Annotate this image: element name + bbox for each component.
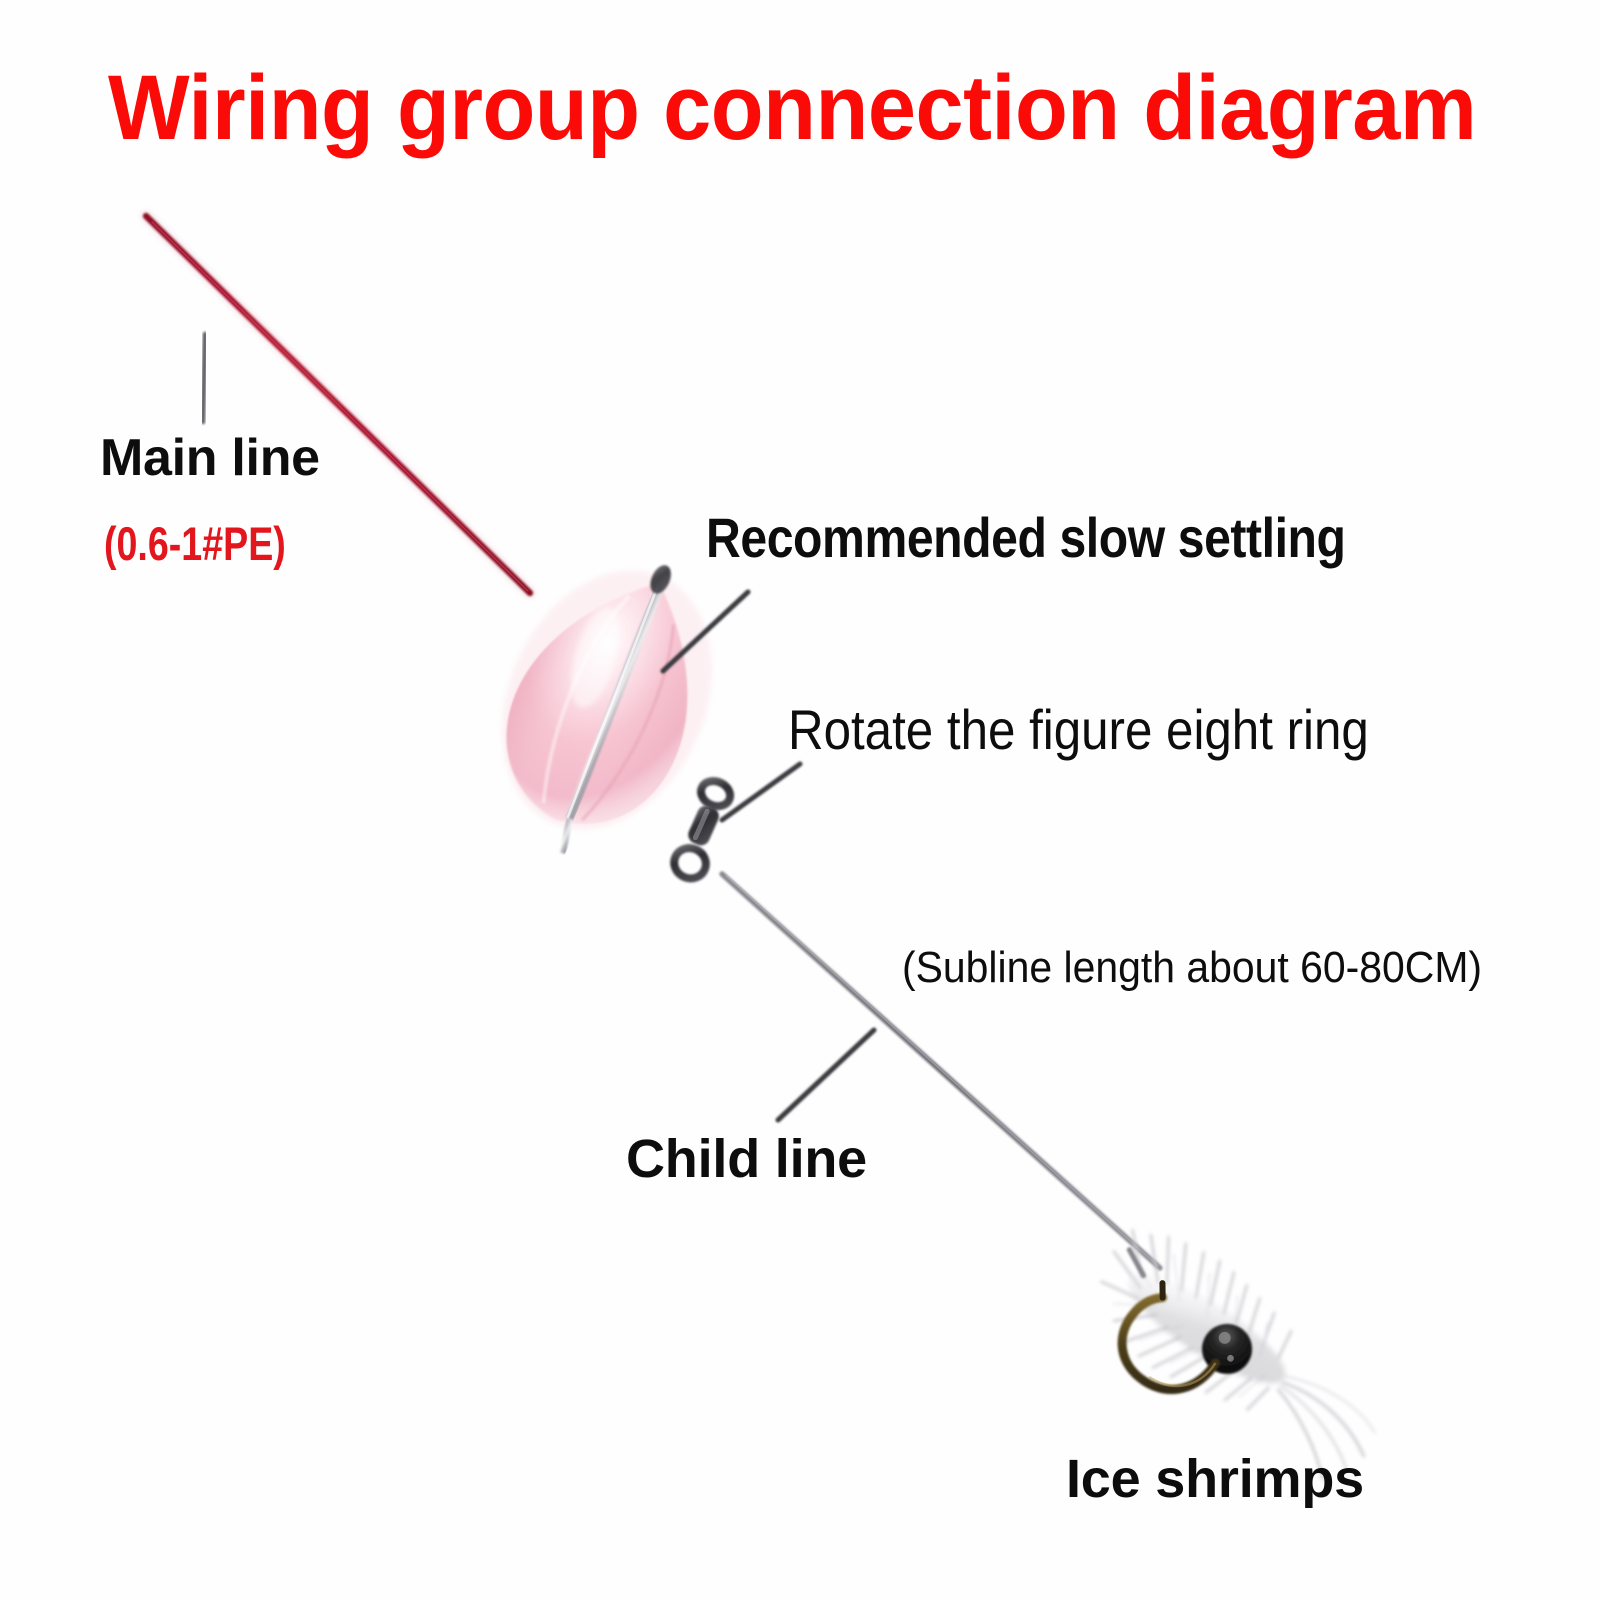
child-line-highlight	[726, 876, 1158, 1266]
child-line-leader	[778, 1030, 874, 1120]
ring-leader	[722, 764, 800, 820]
figure-eight-swivel	[666, 777, 740, 884]
diagram-canvas: Wiring group connection diagram Main lin…	[0, 0, 1600, 1600]
main-line-label: Main line	[100, 432, 320, 484]
main-line-leader	[203, 334, 205, 422]
page-title: Wiring group connection diagram	[108, 62, 1476, 154]
ice-shrimps-label: Ice shrimps	[1066, 1452, 1364, 1506]
subline-length-note: (Subline length about 60-80CM)	[902, 946, 1482, 990]
swivel-lower-ring	[669, 843, 710, 883]
rotate-figure-eight-ring-label: Rotate the figure eight ring	[788, 702, 1369, 758]
child-line-group	[722, 874, 1160, 1268]
swivel-upper-eye	[697, 777, 734, 811]
tackle-rig-illustration	[0, 0, 1600, 1600]
main-line-spec-label: (0.6-1#PE)	[104, 520, 286, 567]
recommended-settling-label: Recommended slow settling	[706, 510, 1346, 566]
child-line-label: Child line	[626, 1132, 867, 1186]
